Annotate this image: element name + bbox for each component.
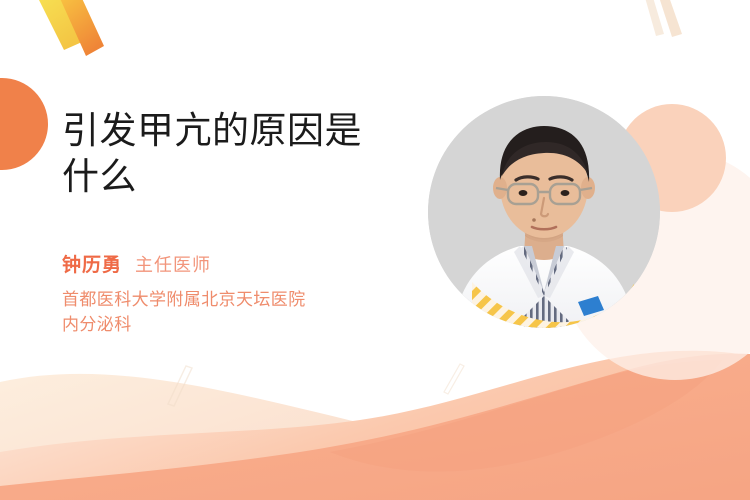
page-title: 引发甲亢的原因是 什么 <box>62 108 422 200</box>
faint-outline-stroke-right <box>444 364 464 394</box>
doctor-identity-line: 钟历勇 主任医师 <box>62 250 422 277</box>
doctor-name: 钟历勇 <box>62 250 122 277</box>
doctor-affiliation: 首都医科大学附属北京天坛医院 内分泌科 <box>62 287 422 337</box>
video-thumbnail-card: 引发甲亢的原因是 什么 钟历勇 主任医师 首都医科大学附属北京天坛医院 内分泌科 <box>0 0 750 500</box>
diagonal-stroke-group-right <box>644 0 682 37</box>
diagonal-stroke-group-left <box>36 0 104 56</box>
doctor-rank: 主任医师 <box>135 251 211 277</box>
text-column: 引发甲亢的原因是 什么 钟历勇 主任医师 首都医科大学附属北京天坛医院 内分泌科 <box>62 108 422 337</box>
faint-outline-stroke <box>168 366 192 406</box>
portrait-illustration <box>428 96 660 328</box>
doctor-portrait <box>428 96 660 328</box>
orange-circle-decoration <box>0 78 48 170</box>
